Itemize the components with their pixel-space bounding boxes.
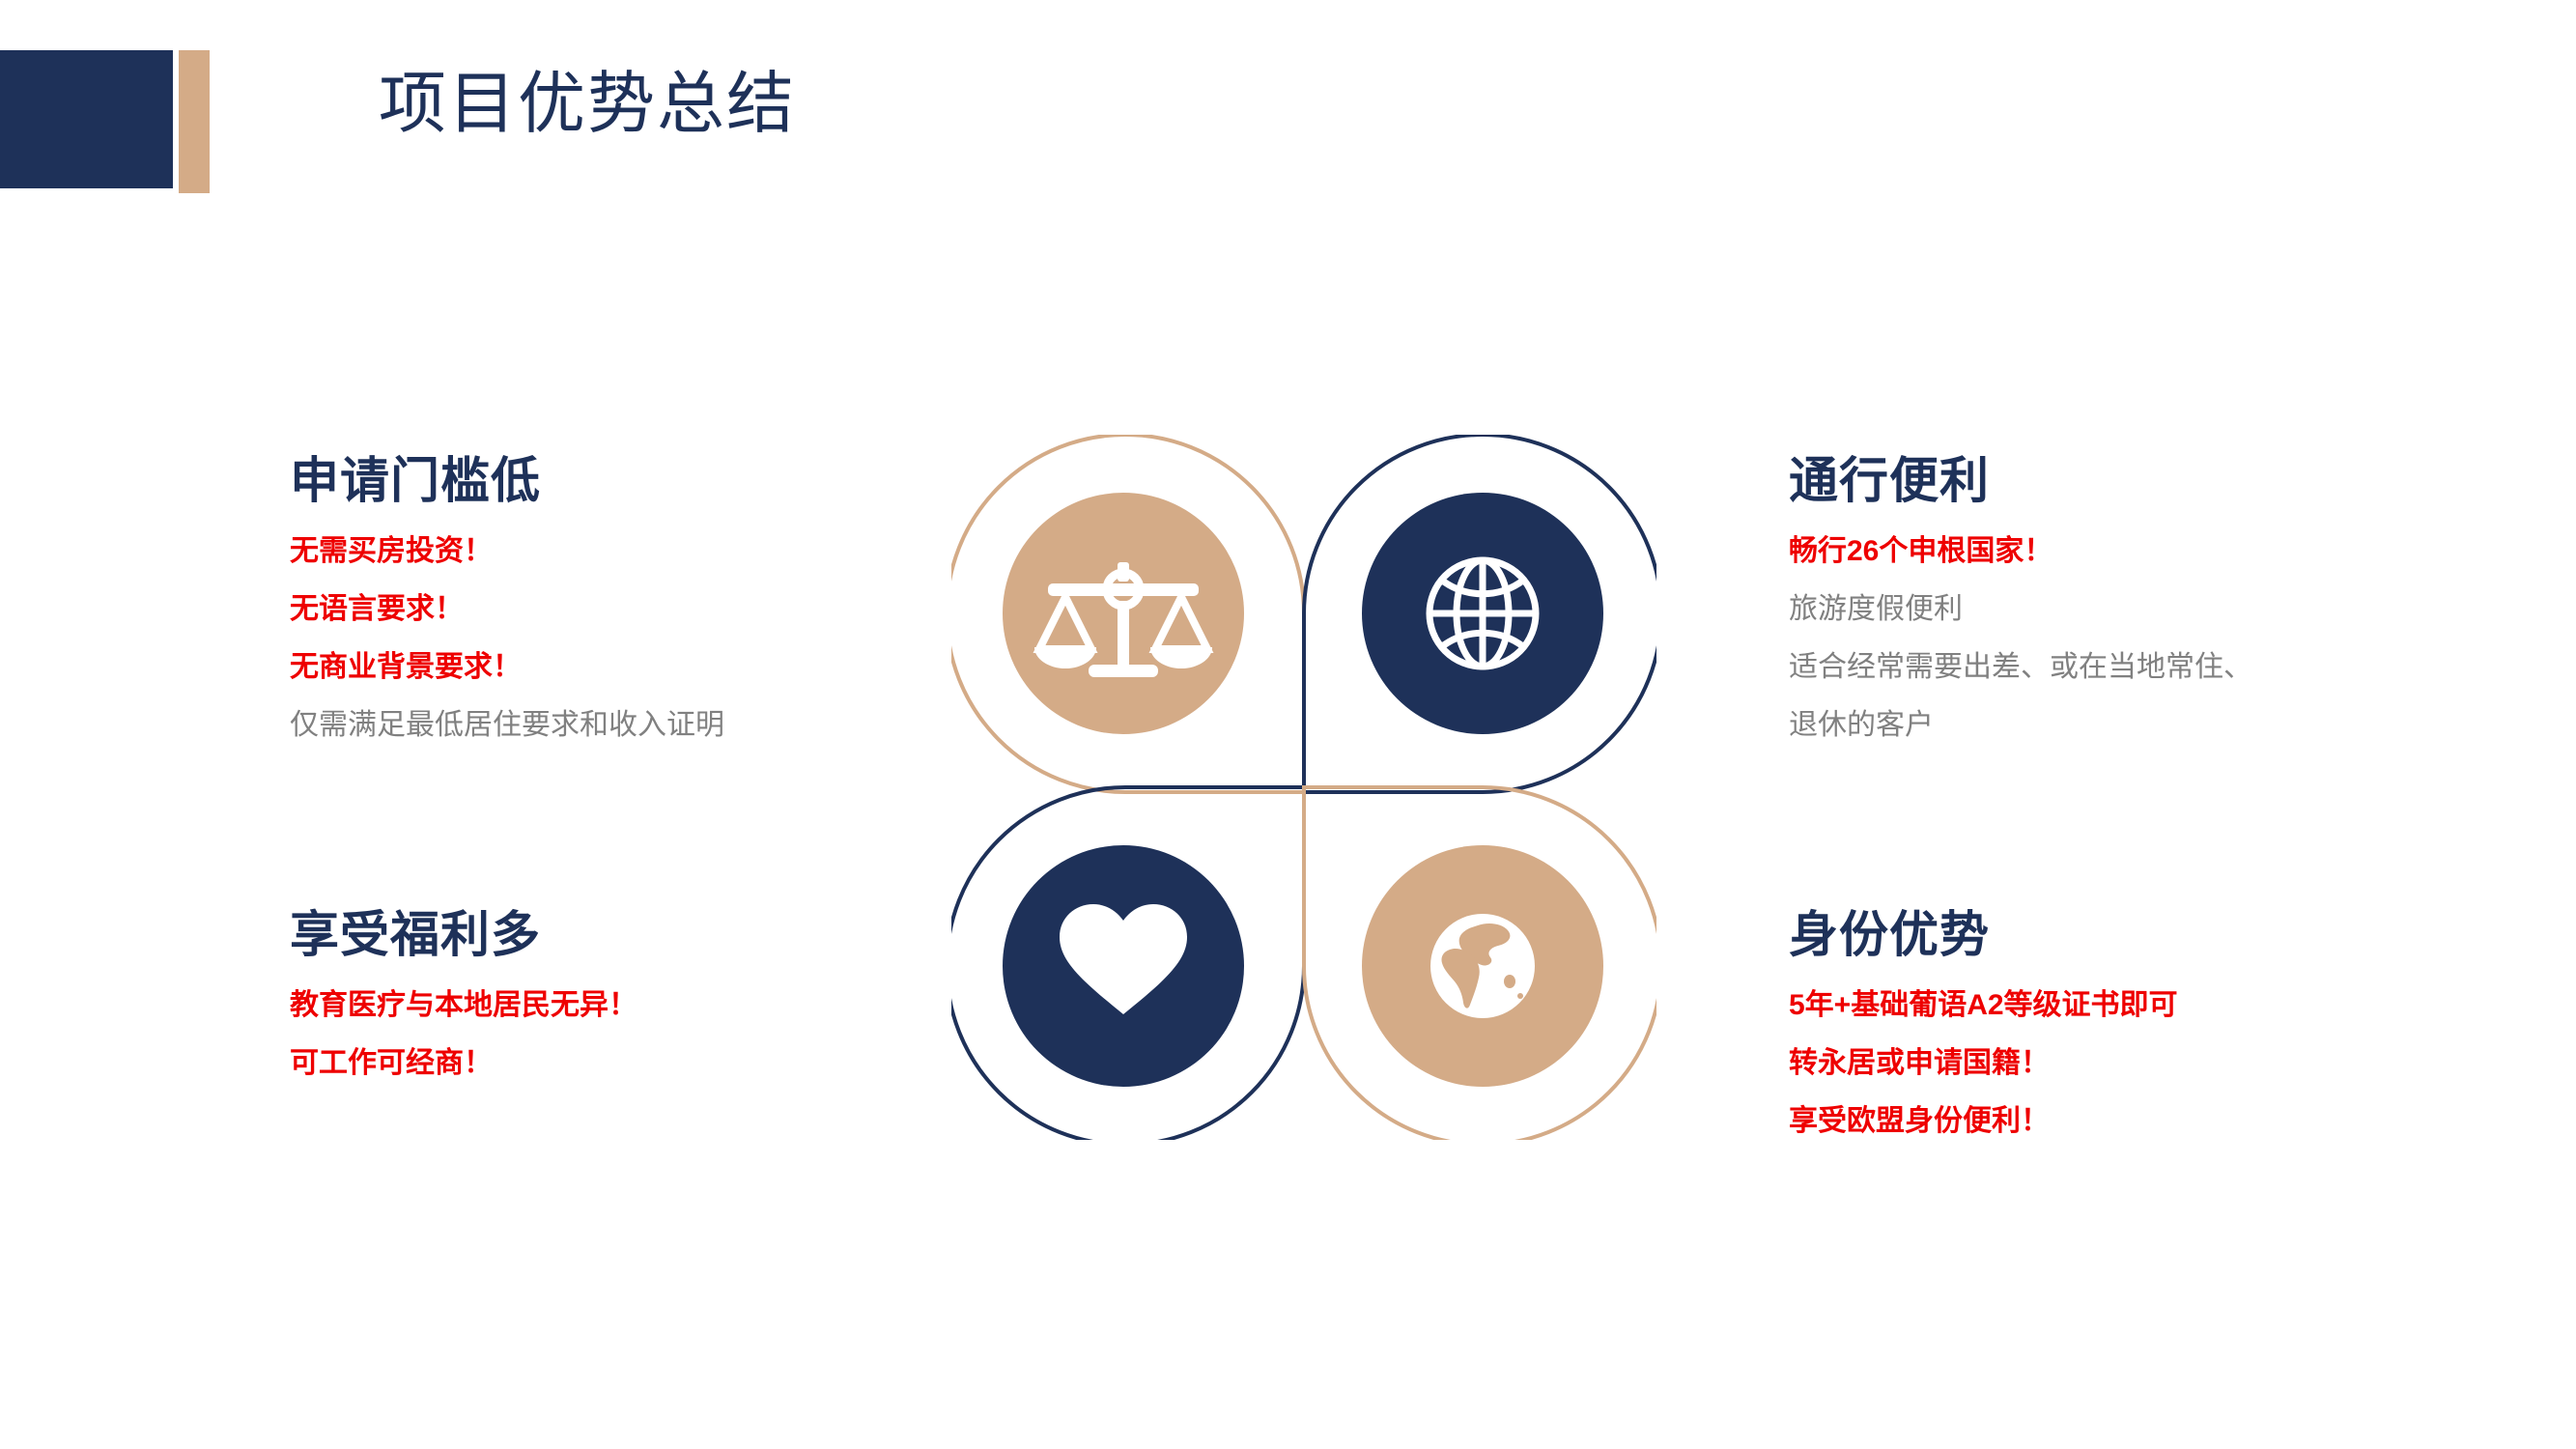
feature-line: 旅游度假便利	[1789, 595, 2542, 624]
feature-heading: 通行便利	[1789, 454, 2542, 508]
navy-accent-block	[0, 50, 173, 188]
feature-line: 无需买房投资！	[290, 537, 1043, 566]
feature-block-travel-convenience: 通行便利 畅行26个申根国家！ 旅游度假便利 适合经常需要出差、或在当地常住、 …	[1789, 454, 2542, 740]
globe-wireframe-icon	[1430, 560, 1536, 667]
page-title: 项目优势总结	[379, 70, 796, 137]
petal-bottom-left[interactable]	[951, 787, 1304, 1140]
feature-block-benefits: 享受福利多 教育医疗与本地居民无异！ 可工作可经商！	[290, 908, 1043, 1078]
feature-line: 享受欧盟身份便利！	[1789, 1107, 2542, 1136]
feature-line: 可工作可经商！	[290, 1049, 1043, 1078]
feature-line: 教育医疗与本地居民无异！	[290, 991, 1043, 1020]
four-petal-diagram	[951, 435, 1656, 1140]
feature-heading: 申请门槛低	[290, 454, 1043, 508]
earth-globe-icon	[1430, 914, 1535, 1018]
feature-heading: 享受福利多	[290, 908, 1043, 962]
feature-block-identity-advantage: 身份优势 5年+基础葡语A2等级证书即可 转永居或申请国籍！ 享受欧盟身份便利！	[1789, 908, 2542, 1136]
feature-line: 无语言要求！	[290, 595, 1043, 624]
feature-line: 转永居或申请国籍！	[1789, 1049, 2542, 1078]
feature-line: 适合经常需要出差、或在当地常住、	[1789, 653, 2542, 682]
petal-top-right[interactable]	[1304, 435, 1656, 792]
petal-top-left[interactable]	[951, 435, 1304, 792]
feature-block-application-threshold: 申请门槛低 无需买房投资！ 无语言要求！ 无商业背景要求！ 仅需满足最低居住要求…	[290, 454, 1043, 740]
tan-accent-block	[179, 50, 210, 193]
feature-line: 无商业背景要求！	[290, 653, 1043, 682]
header-decoration	[0, 50, 210, 188]
feature-line: 仅需满足最低居住要求和收入证明	[290, 711, 1043, 740]
feature-line: 退休的客户	[1789, 711, 2542, 740]
feature-heading: 身份优势	[1789, 908, 2542, 962]
feature-line: 5年+基础葡语A2等级证书即可	[1789, 991, 2542, 1020]
petal-bottom-right[interactable]	[1304, 787, 1656, 1140]
feature-line: 畅行26个申根国家！	[1789, 537, 2542, 566]
